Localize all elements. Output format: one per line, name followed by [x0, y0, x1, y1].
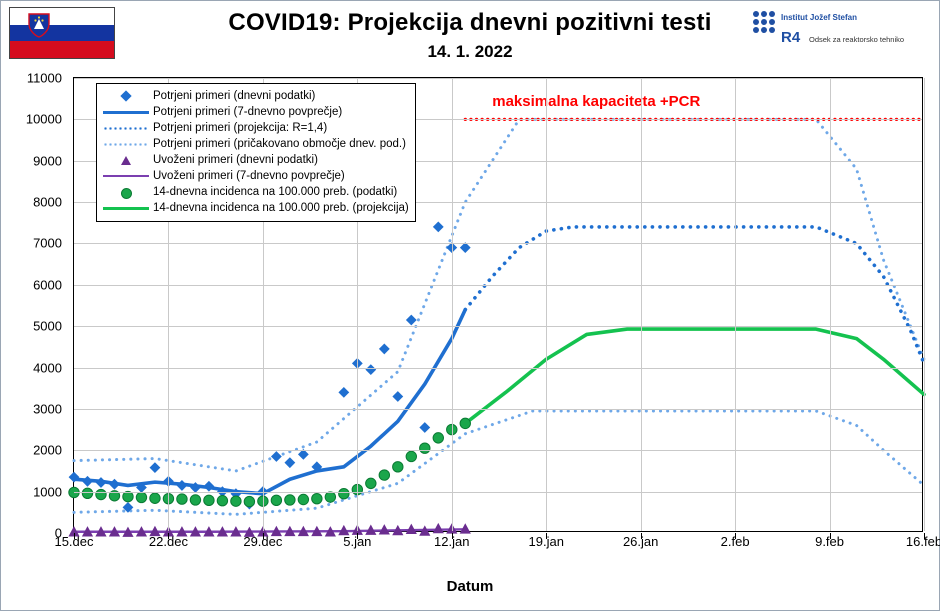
- x-gridline: [641, 78, 642, 531]
- x-axis-tick-label: 29.dec: [243, 534, 282, 549]
- x-gridline: [924, 78, 925, 531]
- data-point-marker-diamond: [109, 479, 120, 490]
- legend-item: Potrjeni primeri (dnevni podatki): [103, 88, 409, 104]
- legend-item: Uvoženi primeri (dnevni podatki): [103, 152, 409, 168]
- data-point-marker-circle: [393, 462, 403, 472]
- data-point-marker-diamond: [284, 457, 295, 468]
- data-point-marker-circle: [217, 496, 227, 506]
- data-point-marker-circle: [298, 494, 308, 504]
- x-gridline: [452, 78, 453, 531]
- y-axis-tick-label: 1000: [8, 484, 68, 499]
- x-gridline: [735, 78, 736, 531]
- data-point-marker-circle: [325, 492, 335, 502]
- x-axis-tick-label: 15.dec: [54, 534, 93, 549]
- series-line: [74, 411, 924, 514]
- data-point-marker-diamond: [204, 481, 215, 492]
- series-line: [465, 227, 924, 364]
- data-point-marker-diamond: [150, 462, 161, 473]
- legend-item-label: Potrjeni primeri (dnevni podatki): [153, 90, 315, 102]
- data-point-marker-diamond: [392, 391, 403, 402]
- data-point-marker-diamond: [96, 477, 107, 488]
- x-gridline: [546, 78, 547, 531]
- y-axis-tick-label: 5000: [8, 319, 68, 334]
- x-axis-tick-label: 22.dec: [149, 534, 188, 549]
- data-point-marker-diamond: [82, 476, 93, 487]
- data-point-marker-circle: [420, 443, 430, 453]
- legend-item: 14-dnevna incidenca na 100.000 preb. (pr…: [103, 200, 409, 216]
- logo-institute-name: Institut Jožef Stefan: [781, 13, 857, 22]
- legend-item: Potrjeni primeri (pričakovano območje dn…: [103, 136, 409, 152]
- legend-key-icon: [103, 153, 149, 167]
- ijs-logo: Institut Jožef Stefan R4 Odsek za reakto…: [751, 9, 931, 57]
- data-point-marker-circle: [82, 488, 92, 498]
- data-point-marker-diamond: [419, 422, 430, 433]
- y-axis-tick-label: 9000: [8, 153, 68, 168]
- data-point-marker-diamond: [406, 315, 417, 326]
- data-point-marker-triangle: [433, 523, 444, 533]
- data-point-marker-circle: [285, 495, 295, 505]
- data-point-marker-diamond: [379, 344, 390, 355]
- legend-item-label: Potrjeni primeri (pričakovano območje dn…: [153, 138, 406, 150]
- x-axis-label: Datum: [1, 578, 939, 595]
- logo-department-name: Odsek za reaktorsko tehniko: [809, 35, 904, 44]
- x-axis-tick-label: 16.feb: [906, 534, 940, 549]
- legend-key-icon: [103, 89, 149, 103]
- data-point-marker-circle: [366, 478, 376, 488]
- y-gridline: [74, 78, 922, 79]
- data-point-marker-circle: [312, 493, 322, 503]
- data-point-marker-circle: [460, 418, 470, 428]
- x-gridline: [830, 78, 831, 531]
- y-axis-tick-label: 7000: [8, 236, 68, 251]
- y-axis-tick-label: 8000: [8, 195, 68, 210]
- y-gridline: [74, 409, 922, 410]
- legend-key-icon: [103, 201, 149, 215]
- legend-item: Potrjeni primeri (7-dnevno povprečje): [103, 104, 409, 120]
- data-point-marker-circle: [379, 470, 389, 480]
- data-point-marker-circle: [123, 491, 133, 501]
- y-gridline: [74, 368, 922, 369]
- legend-key-icon: [103, 105, 149, 119]
- y-axis-tick-label: 4000: [8, 360, 68, 375]
- legend-item-label: Uvoženi primeri (7-dnevno povprečje): [153, 170, 345, 182]
- x-axis-tick-label: 2.feb: [721, 534, 750, 549]
- data-point-marker-diamond: [177, 480, 188, 491]
- data-point-marker-circle: [177, 494, 187, 504]
- series-line: [74, 310, 465, 494]
- x-axis-tick-label: 12.jan: [434, 534, 469, 549]
- legend-item-label: 14-dnevna incidenca na 100.000 preb. (pr…: [153, 202, 409, 214]
- y-axis-tick-label: 6000: [8, 277, 68, 292]
- data-point-marker-circle: [136, 492, 146, 502]
- data-point-marker-diamond: [271, 451, 282, 462]
- y-axis-tick-label: 10000: [8, 112, 68, 127]
- data-point-marker-circle: [271, 495, 281, 505]
- legend-item-label: Uvoženi primeri (dnevni podatki): [153, 154, 318, 166]
- data-point-marker-diamond: [433, 222, 444, 233]
- logo-mark: R4: [781, 29, 800, 46]
- x-axis-tick-label: 9.feb: [815, 534, 844, 549]
- legend-item-label: Potrjeni primeri (7-dnevno povprečje): [153, 106, 342, 118]
- legend-item: Uvoženi primeri (7-dnevno povprečje): [103, 168, 409, 184]
- legend-key-icon: [103, 121, 149, 135]
- x-axis-tick-label: 26.jan: [623, 534, 658, 549]
- legend-item: Potrjeni primeri (projekcija: R=1,4): [103, 120, 409, 136]
- data-point-marker-circle: [231, 496, 241, 506]
- chart-legend: Potrjeni primeri (dnevni podatki)Potrjen…: [96, 83, 416, 222]
- data-point-marker-circle: [204, 495, 214, 505]
- chart-page: COVID19: Projekcija dnevni pozitivni tes…: [0, 0, 940, 611]
- y-axis-tick-label: 3000: [8, 401, 68, 416]
- y-axis-tick-label: 2000: [8, 443, 68, 458]
- x-axis-tick-label: 5.jan: [343, 534, 371, 549]
- data-point-marker-circle: [150, 493, 160, 503]
- y-gridline: [74, 243, 922, 244]
- data-point-marker-circle: [433, 433, 443, 443]
- y-gridline: [74, 326, 922, 327]
- legend-key-icon: [103, 185, 149, 199]
- data-point-marker-circle: [190, 495, 200, 505]
- logo-dots-icon: [751, 11, 777, 37]
- data-point-marker-circle: [406, 451, 416, 461]
- x-axis-tick-label: 19.jan: [529, 534, 564, 549]
- legend-key-icon: [103, 169, 149, 183]
- y-gridline: [74, 450, 922, 451]
- data-point-marker-circle: [244, 496, 254, 506]
- y-gridline: [74, 285, 922, 286]
- legend-item: 14-dnevna incidenca na 100.000 preb. (po…: [103, 184, 409, 200]
- data-point-marker-diamond: [338, 387, 349, 398]
- legend-item-label: 14-dnevna incidenca na 100.000 preb. (po…: [153, 186, 397, 198]
- data-point-marker-circle: [339, 489, 349, 499]
- legend-key-icon: [103, 137, 149, 151]
- y-gridline: [74, 492, 922, 493]
- y-axis-tick-label: 11000: [8, 71, 68, 86]
- capacity-annotation: maksimalna kapaciteta +PCR: [492, 93, 700, 110]
- series-line: [74, 529, 465, 531]
- legend-item-label: Potrjeni primeri (projekcija: R=1,4): [153, 122, 327, 134]
- data-point-marker-diamond: [365, 364, 376, 375]
